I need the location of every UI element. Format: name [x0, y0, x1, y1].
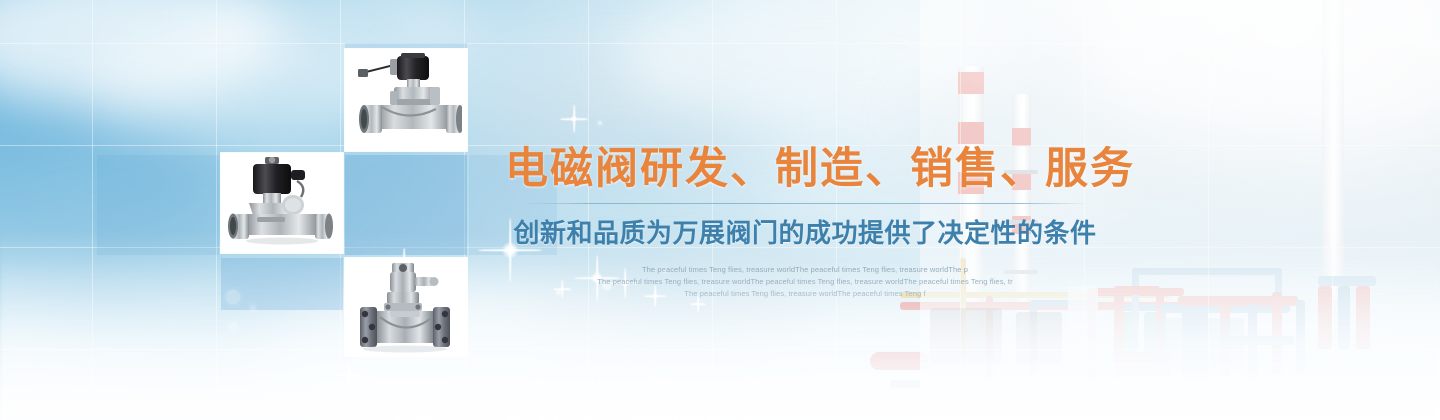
- decor-tile: [97, 155, 219, 255]
- product-card-2[interactable]: [221, 153, 343, 253]
- solenoid-valve-threaded-coil-icon: [227, 157, 337, 249]
- banner-headline: 电磁阀研发、制造、销售、服务: [505, 145, 1105, 193]
- product-card-3[interactable]: [345, 258, 467, 356]
- blurb-line: The peaceful times Teng flies, treasure …: [505, 288, 1105, 300]
- bokeh-dot: [250, 305, 256, 311]
- solenoid-valve-threaded-lever-icon: [350, 53, 462, 147]
- divider-rule: [522, 203, 1088, 204]
- bokeh-dot: [228, 322, 238, 332]
- product-card-1[interactable]: [345, 49, 467, 151]
- banner-copy: 电磁阀研发、制造、销售、服务 创新和品质为万展阀门的成功提供了决定性的条件 Th…: [505, 145, 1105, 301]
- decor-tile: [345, 43, 467, 48]
- banner-subheadline: 创新和品质为万展阀门的成功提供了决定性的条件: [505, 213, 1105, 250]
- blurb-line: The peaceful times Teng flies, treasure …: [505, 264, 1105, 276]
- bokeh-dot: [226, 290, 240, 304]
- decor-tile: [345, 155, 467, 255]
- banner-blurb: The peaceful times Teng flies, treasure …: [505, 264, 1105, 300]
- bokeh-dot: [598, 121, 602, 125]
- solenoid-valve-flanged-icon: [350, 261, 462, 353]
- hero-banner: 电磁阀研发、制造、销售、服务 创新和品质为万展阀门的成功提供了决定性的条件 Th…: [0, 0, 1440, 420]
- decor-tile: [221, 258, 343, 310]
- blurb-line: The peaceful times Teng flies, treasure …: [505, 276, 1105, 288]
